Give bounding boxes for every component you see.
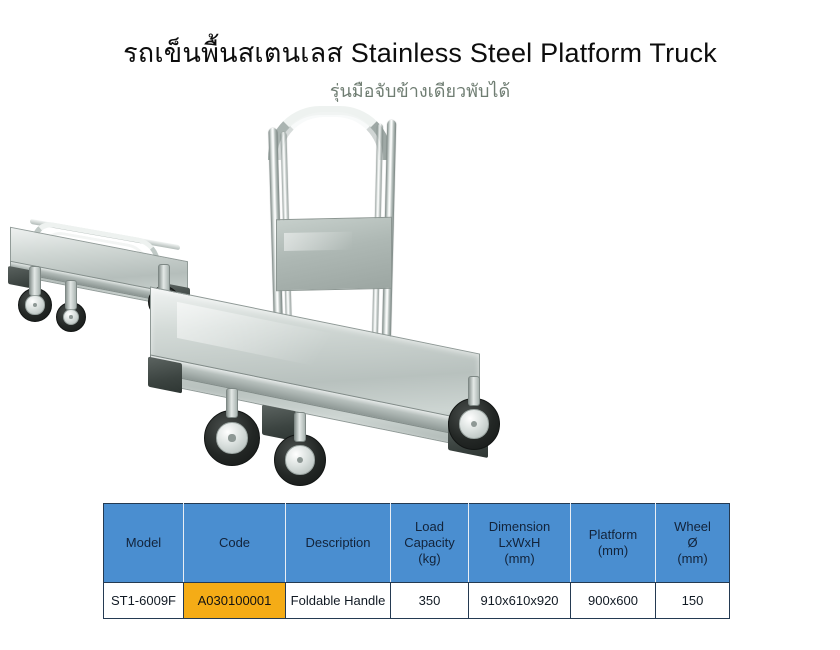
cell-wheel-diameter: 150 — [656, 583, 730, 619]
caster-hub — [459, 409, 488, 438]
product-image: ST1-6009F — [0, 98, 840, 488]
caster-tire — [204, 410, 260, 466]
caster-wheel — [274, 434, 326, 486]
folded-caster-wheel — [56, 302, 86, 332]
caster-fork — [468, 376, 480, 406]
table-header-row: Model Code Description Load Capacity (kg… — [104, 504, 730, 583]
cell-description: Foldable Handle — [286, 583, 391, 619]
column-header-description: Description — [286, 504, 391, 583]
caster-fork — [294, 412, 306, 442]
cell-platform: 900x600 — [571, 583, 656, 619]
column-header-code: Code — [184, 504, 286, 583]
specification-table: Model Code Description Load Capacity (kg… — [103, 503, 730, 619]
column-header-platform: Platform (mm) — [571, 504, 656, 583]
cell-load-capacity: 350 — [391, 583, 469, 619]
caster-wheel — [204, 410, 260, 466]
column-header-load-capacity: Load Capacity (kg) — [391, 504, 469, 583]
folded-corner-cap-left — [8, 266, 30, 288]
deck-corner-cap-front-left — [148, 357, 182, 394]
cell-model: ST1-6009F — [104, 583, 184, 619]
column-header-dimension: Dimension LxWxH (mm) — [469, 504, 571, 583]
upright-truck-illustration — [196, 98, 616, 488]
page-title: รถเข็นพื้นสเตนเลส Stainless Steel Platfo… — [0, 0, 840, 70]
caster-fork — [226, 388, 238, 418]
caster-fork — [29, 266, 41, 296]
caster-hub — [25, 295, 44, 314]
caster-wheel — [448, 398, 500, 450]
column-header-wheel-diameter: Wheel Ø (mm) — [656, 504, 730, 583]
folded-caster-wheel — [18, 288, 52, 322]
column-header-model: Model — [104, 504, 184, 583]
caster-hub — [63, 309, 80, 326]
heading-block: รถเข็นพื้นสเตนเลส Stainless Steel Platfo… — [0, 0, 840, 102]
cell-dimension: 910x610x920 — [469, 583, 571, 619]
caster-fork — [65, 280, 77, 310]
cell-code: A030100001 — [184, 583, 286, 619]
backrest-panel — [276, 217, 392, 291]
table-row: ST1-6009F A030100001 Foldable Handle 350… — [104, 583, 730, 619]
caster-hub — [285, 445, 314, 474]
caster-hub — [216, 422, 247, 453]
